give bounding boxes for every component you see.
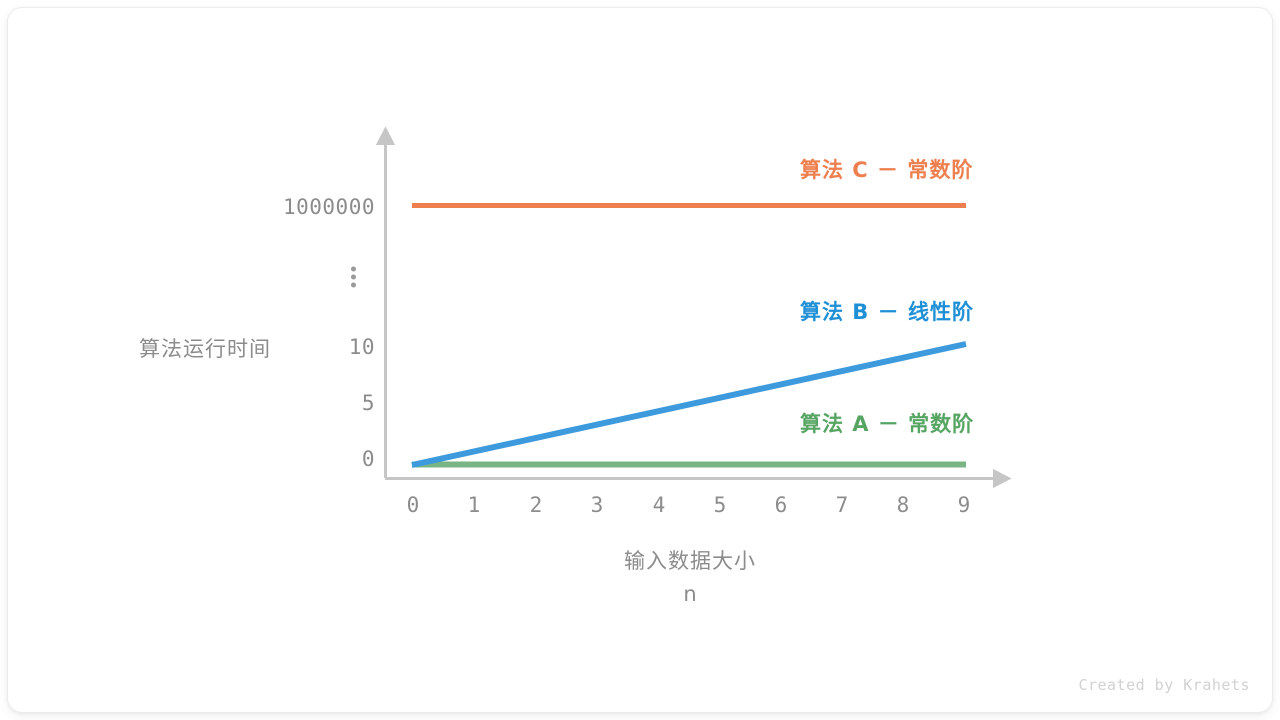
x-tick-label-6: 6: [761, 493, 801, 517]
x-tick-label-2: 2: [516, 493, 556, 517]
y-tick-label-5: 5: [362, 391, 375, 415]
legend-label-algorithm-a: 算法 A － 常数阶: [800, 408, 974, 438]
ellipsis-dot: [351, 267, 356, 272]
credit-watermark: Created by Krahets: [1078, 676, 1250, 694]
y-tick-label-10: 10: [349, 335, 375, 359]
legend-label-algorithm-c: 算法 C － 常数阶: [800, 154, 973, 184]
ellipsis-dot: [351, 275, 356, 280]
y-axis-title: 算法运行时间: [139, 333, 271, 363]
x-tick-label-8: 8: [883, 493, 923, 517]
x-tick-label-9: 9: [944, 493, 984, 517]
x-tick-label-4: 4: [639, 493, 679, 517]
series-line-b: [412, 344, 966, 465]
chart-canvas: 1000000 10 5 0 0 1 2 3 4 5 6 7 8 9 算法运行时…: [0, 0, 1280, 720]
x-axis-title: 输入数据大小: [624, 545, 756, 575]
x-tick-label-0: 0: [393, 493, 433, 517]
legend-label-algorithm-b: 算法 B － 线性阶: [800, 296, 974, 326]
y-tick-label-1000000: 1000000: [283, 195, 375, 219]
x-tick-label-5: 5: [700, 493, 740, 517]
y-axis-ellipsis: [346, 264, 360, 291]
x-tick-label-1: 1: [454, 493, 494, 517]
x-axis-title-variable: n: [683, 582, 696, 606]
ellipsis-dot: [351, 283, 356, 288]
y-tick-label-0: 0: [362, 447, 375, 471]
x-tick-label-7: 7: [822, 493, 862, 517]
x-tick-label-3: 3: [577, 493, 617, 517]
